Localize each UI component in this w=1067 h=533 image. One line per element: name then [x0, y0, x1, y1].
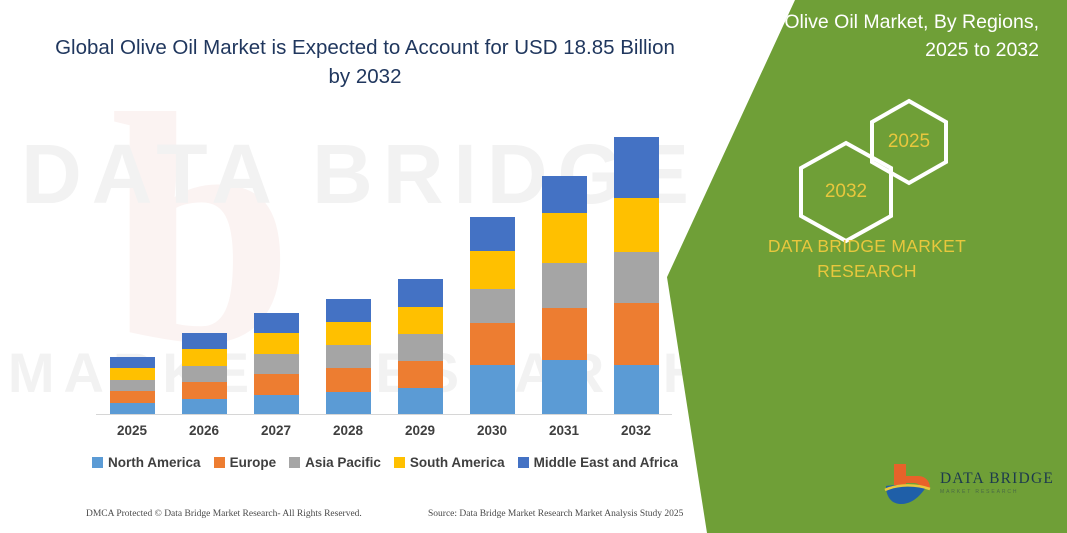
x-axis-label-2027: 2027 [240, 423, 312, 438]
bar-segment [254, 395, 299, 415]
bar-segment [326, 322, 371, 345]
bar-segment [326, 368, 371, 392]
hexagon-badge-start-year: 2025 [869, 98, 949, 186]
bar-segment [254, 333, 299, 354]
data-bridge-logo: DATA BRIDGE MARKET RESEARCH [882, 462, 1057, 510]
x-axis-label-2026: 2026 [168, 423, 240, 438]
bar-segment [614, 198, 659, 252]
x-axis-label-2029: 2029 [384, 423, 456, 438]
legend-swatch-icon [92, 457, 103, 468]
bar-segment [254, 313, 299, 333]
bar-segment [470, 323, 515, 365]
bar-segment [182, 349, 227, 366]
infographic-page: b DATA BRIDGE MARKET RESEARCH Global Oli… [0, 0, 1067, 533]
legend-label: Europe [230, 455, 277, 470]
bar-segment [326, 392, 371, 415]
data-bridge-logo-mark [882, 462, 938, 508]
legend-swatch-icon [518, 457, 529, 468]
legend-swatch-icon [394, 457, 405, 468]
bar-segment [110, 380, 155, 391]
x-axis-label-2031: 2031 [528, 423, 600, 438]
x-axis-label-2032: 2032 [600, 423, 672, 438]
hexagon-badge-end-year: 2032 [798, 140, 894, 244]
chart-title: Global Olive Oil Market is Expected to A… [55, 33, 675, 91]
logo-wordmark: DATA BRIDGE [940, 470, 1054, 488]
bar-segment [542, 176, 587, 213]
bar-segment [182, 399, 227, 415]
bar-2029 [398, 279, 443, 415]
legend-label: Middle East and Africa [534, 455, 678, 470]
bar-segment [254, 354, 299, 374]
panel-brand-line-1: DATA BRIDGE MARKET [697, 234, 1037, 259]
bar-segment [182, 366, 227, 382]
panel-brand: DATA BRIDGE MARKET RESEARCH [697, 234, 1037, 284]
legend-label: South America [410, 455, 505, 470]
x-axis-label-2030: 2030 [456, 423, 528, 438]
bar-2027 [254, 313, 299, 415]
bar-2030 [470, 217, 515, 415]
legend-label: Asia Pacific [305, 455, 381, 470]
footer-copyright: DMCA Protected © Data Bridge Market Rese… [86, 509, 362, 519]
panel-brand-line-2: RESEARCH [697, 259, 1037, 284]
legend-label: North America [108, 455, 201, 470]
bar-2025 [110, 357, 155, 415]
x-axis-label-2028: 2028 [312, 423, 384, 438]
bar-segment [470, 289, 515, 323]
bar-segment [182, 333, 227, 349]
bar-segment [398, 361, 443, 388]
footer: DMCA Protected © Data Bridge Market Rese… [0, 506, 700, 526]
chart-legend: North AmericaEuropeAsia PacificSouth Ame… [96, 455, 674, 470]
bar-segment [614, 252, 659, 303]
bar-segment [398, 279, 443, 307]
bar-segment [470, 251, 515, 289]
bar-segment [542, 308, 587, 360]
hexagon-end-year-label: 2032 [825, 181, 867, 203]
legend-item[interactable]: North America [92, 455, 201, 470]
legend-item[interactable]: Asia Pacific [289, 455, 381, 470]
bar-segment [470, 217, 515, 251]
bar-segment [326, 345, 371, 368]
x-axis-labels: 20252026202720282029203020312032 [96, 423, 672, 445]
hexagon-start-year-label: 2025 [888, 131, 930, 153]
bar-segment [542, 213, 587, 263]
bar-segment [326, 299, 371, 322]
bar-segment [110, 391, 155, 403]
bar-segment [398, 334, 443, 361]
stacked-bar-chart [96, 120, 672, 415]
bar-2031 [542, 176, 587, 415]
bar-2028 [326, 299, 371, 415]
bar-2026 [182, 333, 227, 415]
bar-segment [542, 360, 587, 415]
bar-segment [254, 374, 299, 395]
legend-item[interactable]: South America [394, 455, 505, 470]
legend-swatch-icon [289, 457, 300, 468]
x-axis-label-2025: 2025 [96, 423, 168, 438]
axis-baseline [96, 414, 672, 415]
bar-2032 [614, 137, 659, 415]
legend-swatch-icon [214, 457, 225, 468]
chart-pane: b DATA BRIDGE MARKET RESEARCH Global Oli… [0, 0, 760, 533]
bar-segment [398, 388, 443, 415]
bar-segment [110, 368, 155, 380]
bar-segment [614, 303, 659, 365]
bar-segment [542, 263, 587, 308]
legend-item[interactable]: Europe [214, 455, 277, 470]
logo-tagline: MARKET RESEARCH [940, 489, 1018, 495]
legend-item[interactable]: Middle East and Africa [518, 455, 678, 470]
bar-segment [614, 137, 659, 198]
footer-source: Source: Data Bridge Market Research Mark… [428, 509, 683, 519]
bar-segment [110, 357, 155, 368]
bar-segment [614, 365, 659, 415]
bar-segment [470, 365, 515, 415]
bar-segment [398, 307, 443, 334]
bar-segment [182, 382, 227, 399]
